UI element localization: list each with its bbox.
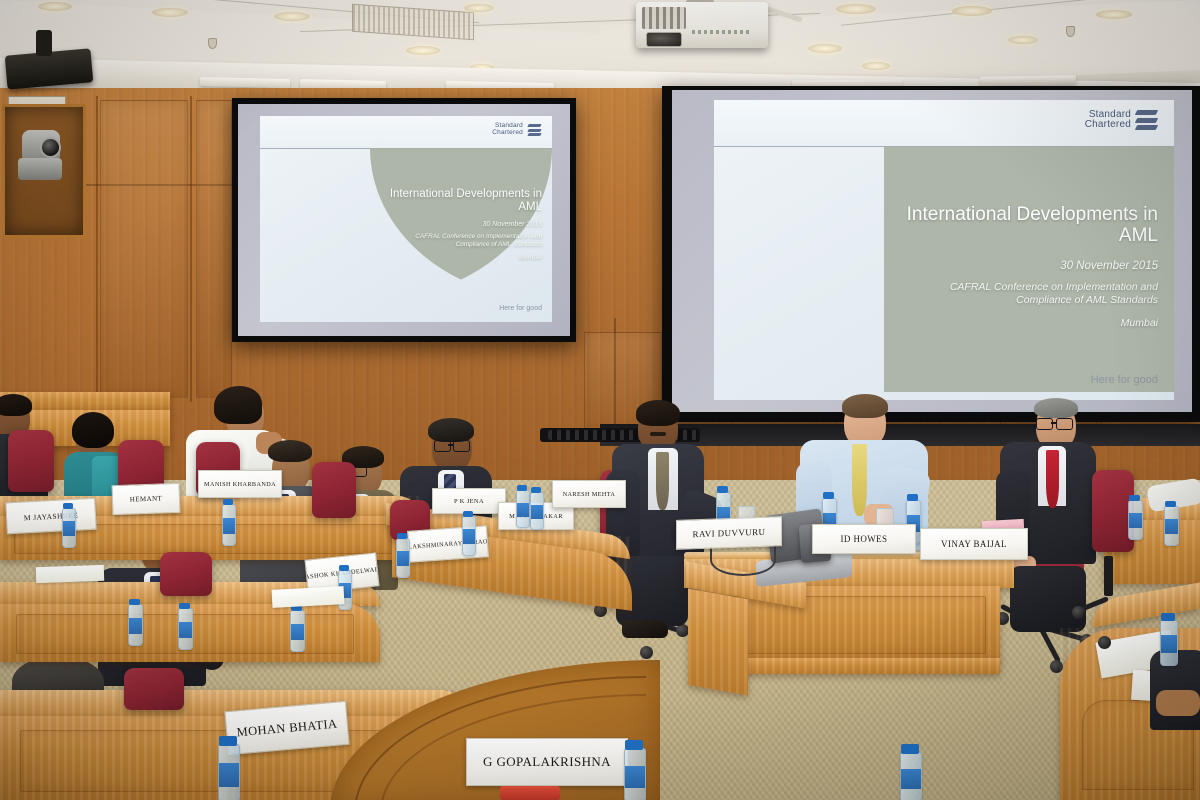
glasses-icon	[1036, 418, 1053, 430]
wall-panel	[196, 100, 232, 398]
projector-label	[692, 30, 752, 34]
water-bottle[interactable]	[900, 752, 922, 800]
glasses-icon	[1056, 418, 1073, 430]
wall-seam	[84, 184, 234, 186]
ceiling-downlight	[152, 8, 188, 17]
bottle-cap	[717, 486, 728, 493]
placard-lakshminarayan-rao: LAKSHMINARAYAN RAO	[407, 525, 489, 563]
water-bottle[interactable]	[624, 748, 646, 800]
water-bottle[interactable]	[516, 490, 530, 528]
bottle-cap	[907, 494, 918, 501]
placard-g-gopalakrishna: G GOPALAKRISHNA	[466, 738, 628, 786]
chair-caster	[1072, 606, 1085, 619]
chair-post	[1104, 556, 1113, 596]
placard-vinay-baijal: VINAY BAIJAL	[920, 528, 1028, 560]
water-bottle[interactable]	[530, 492, 544, 530]
bottle-cap	[463, 511, 473, 517]
chair-caster	[640, 646, 653, 659]
conference-room-photo: Standard Chartered International Develop…	[0, 0, 1200, 800]
projector-vent-icon	[642, 7, 686, 29]
slide-title-line2: AML	[518, 201, 542, 213]
brand-name-line2: Chartered	[492, 130, 523, 137]
water-bottle[interactable]	[462, 516, 476, 556]
necktie	[1046, 450, 1059, 508]
placard-manish-kharbanda: MANISH KHARBANDA	[198, 470, 282, 498]
bottle-cap	[1129, 495, 1140, 501]
ceiling-downlight	[1008, 36, 1038, 44]
water-bottle[interactable]	[1160, 620, 1178, 666]
left-projection-screen: Standard Chartered International Develop…	[232, 98, 576, 342]
right-projection-screen: Standard Chartered International Develop…	[662, 86, 1200, 422]
slide-title-line1: International Developments in	[390, 188, 542, 200]
mic-cable	[710, 544, 776, 576]
panel-table-return-front	[688, 589, 748, 696]
main-slide: Standard Chartered International Develop…	[714, 100, 1174, 400]
water-bottle[interactable]	[396, 538, 410, 578]
slide-subtitle-line1: CAFRAL Conference on Implementation and	[950, 281, 1158, 293]
shoe	[622, 620, 668, 638]
placard-label: NARESH MEHTA	[563, 491, 616, 498]
hair	[1034, 398, 1078, 418]
bottle-cap	[517, 485, 527, 491]
glasses-icon	[434, 440, 451, 452]
hair	[636, 400, 680, 426]
moustache	[650, 432, 666, 436]
audience-chair[interactable]	[124, 668, 184, 710]
glasses-bridge	[1051, 422, 1056, 424]
ptz-camera-base	[18, 158, 62, 180]
water-bottle[interactable]	[1128, 500, 1143, 540]
hair	[72, 412, 114, 448]
bottle-cap	[63, 503, 73, 509]
ceiling-downlight	[274, 12, 310, 21]
placard-hemant: HEMANT	[111, 483, 180, 515]
slide-tagline: Here for good	[499, 305, 542, 312]
necktie	[852, 444, 867, 516]
audience-chair[interactable]	[312, 462, 356, 518]
hair	[428, 418, 474, 442]
placard-m-jayashree: M JAYASHREE	[5, 498, 97, 535]
ceiling-downlight	[464, 4, 494, 12]
hair	[842, 394, 888, 418]
ceiling-downlight	[836, 4, 876, 14]
placard-label: ID HOWES	[841, 534, 888, 544]
glasses-icon	[453, 440, 470, 452]
slide-title-line1: International Developments in	[907, 204, 1158, 225]
bottle-cap	[1165, 501, 1176, 507]
wall-seam	[190, 96, 192, 402]
bottle-cap	[179, 603, 190, 609]
bottle-cap	[531, 487, 541, 493]
slide-title-line2: AML	[1119, 225, 1158, 246]
slide-tagline: Here for good	[1091, 374, 1158, 386]
audience-chair[interactable]	[8, 430, 54, 492]
panel-table-panel	[716, 596, 986, 654]
papers[interactable]	[272, 586, 345, 608]
bottle-cap	[339, 565, 349, 571]
wall-seam	[96, 96, 98, 396]
water-bottle[interactable]	[178, 608, 193, 650]
papers[interactable]	[36, 565, 105, 583]
slide-date: 30 November 2015	[1060, 260, 1158, 272]
bottle-cap	[625, 740, 643, 750]
camera-lens-icon	[40, 137, 61, 158]
ceiling-downlight	[862, 62, 890, 70]
slide-subtitle-line1: CAFRAL Conference on Implementation and	[415, 233, 542, 240]
audience-chair[interactable]	[160, 552, 212, 596]
water-bottle[interactable]	[62, 508, 76, 548]
brand-name-line2: Chartered	[1085, 120, 1131, 131]
wall-panel	[100, 100, 188, 398]
ceiling-sprinkler	[1066, 26, 1075, 37]
placard-label: MOHAN BHATIA	[236, 716, 338, 740]
slide-location: Mumbai	[519, 254, 542, 261]
bottle-cap	[219, 736, 237, 746]
placard-label: RAVI DUVVURU	[693, 527, 766, 540]
water-bottle[interactable]	[218, 744, 240, 800]
hair	[214, 386, 262, 424]
slide-location: Mumbai	[1121, 317, 1158, 329]
water-bottle[interactable]	[1164, 506, 1179, 546]
ceiling-diffuser	[980, 75, 1076, 86]
leg	[1010, 566, 1086, 632]
hair	[268, 440, 312, 462]
rig-mount-arm	[36, 30, 52, 56]
water-bottle[interactable]	[128, 604, 143, 646]
ceiling	[0, 0, 1200, 96]
ceiling-sprinkler	[208, 38, 217, 49]
water-bottle[interactable]	[222, 504, 236, 546]
water-bottle[interactable]	[290, 610, 305, 652]
placard-naresh-mehta: NARESH MEHTA	[552, 480, 626, 508]
slide-date: 30 November 2015	[482, 221, 542, 228]
bottle-cap	[397, 533, 407, 539]
chair-caster	[1098, 636, 1111, 649]
ceiling-downlight	[38, 2, 72, 11]
ceiling-projector	[636, 2, 768, 48]
desk-item[interactable]	[500, 786, 560, 800]
bottle-cap	[823, 492, 834, 499]
bottle-cap	[129, 599, 140, 605]
slide-subtitle-line2: Compliance of AML Standards	[456, 241, 542, 248]
placard-ravi-duvvuru: RAVI DUVVURU	[676, 516, 782, 550]
ceiling-downlight	[1096, 10, 1132, 19]
placard-label: P K JENA	[454, 498, 484, 505]
glasses-bridge	[448, 444, 454, 446]
ptz-camera-icon	[18, 130, 62, 184]
ceiling-downlight	[406, 46, 440, 55]
standard-chartered-logo-icon	[527, 123, 542, 137]
placard-label: MANISH KHARBANDA	[204, 481, 276, 488]
placard-label: G GOPALAKRISHNA	[483, 754, 611, 770]
left-slide: Standard Chartered International Develop…	[260, 116, 552, 322]
projector-lens-icon	[646, 32, 682, 47]
placard-id-howes: ID HOWES	[812, 524, 916, 554]
placard-label: HEMANT	[130, 494, 163, 503]
standard-chartered-logo-icon	[1135, 109, 1158, 131]
ceiling-downlight	[952, 6, 992, 16]
wall-seam	[614, 318, 616, 438]
bottle-cap	[901, 744, 919, 754]
ptz-camera-head	[22, 130, 60, 160]
placard-label: VINAY BAIJAL	[941, 539, 1007, 549]
bottle-cap	[1161, 613, 1175, 621]
hair	[0, 394, 32, 416]
bottle-cap	[223, 499, 233, 505]
slide-subtitle-line2: Compliance of AML Standards	[1016, 294, 1158, 306]
ceiling-downlight	[808, 44, 842, 53]
necktie	[656, 452, 669, 510]
hand	[1156, 690, 1200, 716]
